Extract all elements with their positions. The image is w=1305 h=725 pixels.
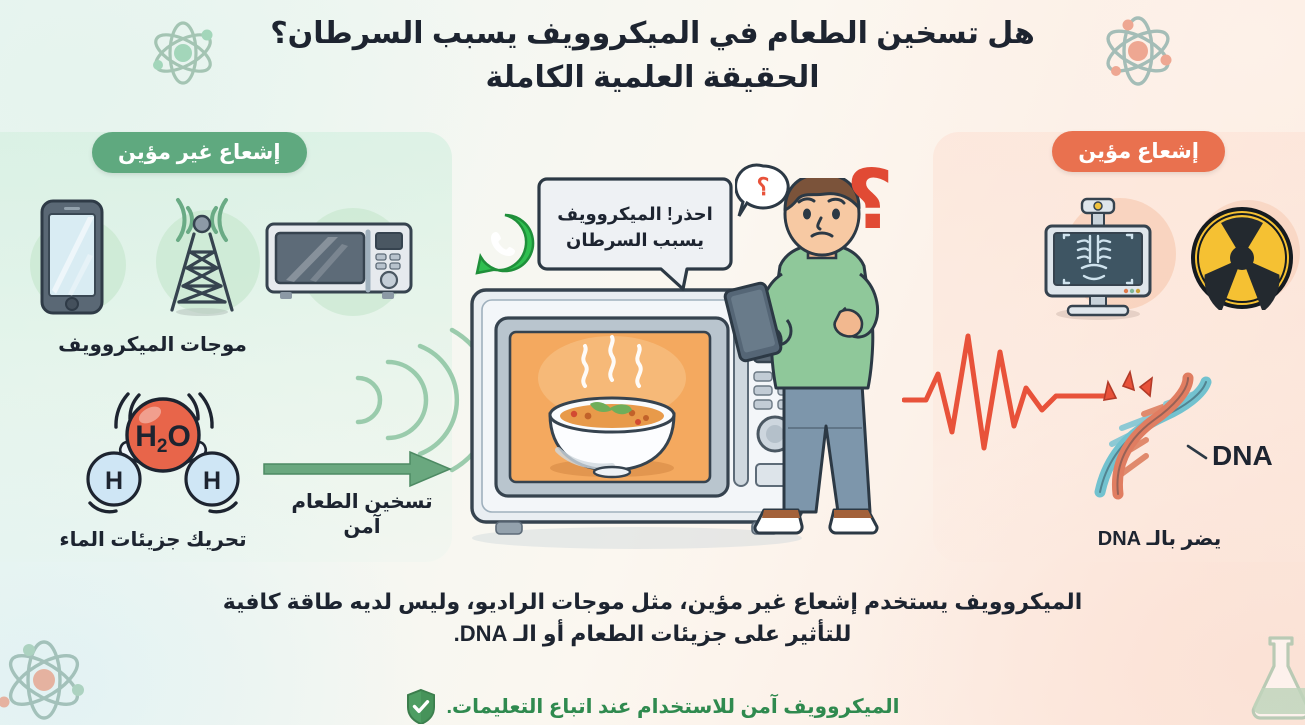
caption-water-molecule: تحريك جزيئات الماء xyxy=(38,528,268,553)
infographic-canvas: هل تسخين الطعام في الميكروويف يسبب السرط… xyxy=(0,0,1305,725)
microwave-oven-icon xyxy=(264,218,414,309)
molecule-right-atom: H xyxy=(203,467,221,495)
caption-safe-heating-line1: تسخين الطعام xyxy=(291,491,432,513)
caption-microwaves: موجات الميكروويف xyxy=(40,333,265,358)
small-question-mark: ؟ xyxy=(757,174,770,201)
conclusion-label: الميكروويف آمن للاستخدام عند اتباع التعل… xyxy=(446,694,899,719)
conclusion-text: الميكروويف آمن للاستخدام عند اتباع التعل… xyxy=(0,688,1305,724)
water-molecule-diagram: H2O H H xyxy=(58,385,268,525)
caption-safe-heating-line2: آمن xyxy=(343,516,380,538)
badge-ionizing: إشعاع مؤين xyxy=(1052,131,1225,172)
caption-safe-heating: تسخين الطعام آمن xyxy=(272,490,452,540)
big-question-mark-glyph: ؟ xyxy=(846,155,894,246)
xray-monitor-icon xyxy=(1038,196,1158,325)
molecule-left-atom: H xyxy=(105,467,123,495)
title-line-2: الحقيقة العلمية الكاملة xyxy=(0,56,1305,100)
cell-tower-icon xyxy=(148,194,256,321)
radioactive-icon xyxy=(1190,206,1294,315)
caption-dna-harm: يضر بالـ DNA xyxy=(1062,527,1257,552)
speech-bubble-line1: احذر! الميكروويف xyxy=(557,202,712,227)
shield-check-icon xyxy=(405,688,437,724)
speech-bubble: احذر! الميكروويف يسبب السرطان xyxy=(537,175,733,298)
badge-non-ionizing: إشعاع غير مؤين xyxy=(92,132,307,173)
safe-heating-arrow xyxy=(262,448,454,495)
speech-bubble-line2: يسبب السرطان xyxy=(566,228,704,253)
summary-line-1: الميكروويف يستخدم إشعاع غير مؤين، مثل مو… xyxy=(0,586,1305,618)
page-title: هل تسخين الطعام في الميكروويف يسبب السرط… xyxy=(0,12,1305,99)
title-line-1: هل تسخين الطعام في الميكروويف يسبب السرط… xyxy=(0,12,1305,56)
small-question-bubble: ؟ xyxy=(735,163,791,226)
smartphone-icon xyxy=(38,198,106,321)
summary-line-2: للتأثير على جزيئات الطعام أو الـ DNA. xyxy=(0,618,1305,650)
summary-text: الميكروويف يستخدم إشعاع غير مؤين، مثل مو… xyxy=(0,586,1305,650)
big-question-mark: ؟ xyxy=(846,160,894,242)
whatsapp-icon xyxy=(474,212,536,281)
dna-pointer-label: DNA xyxy=(1212,440,1273,472)
